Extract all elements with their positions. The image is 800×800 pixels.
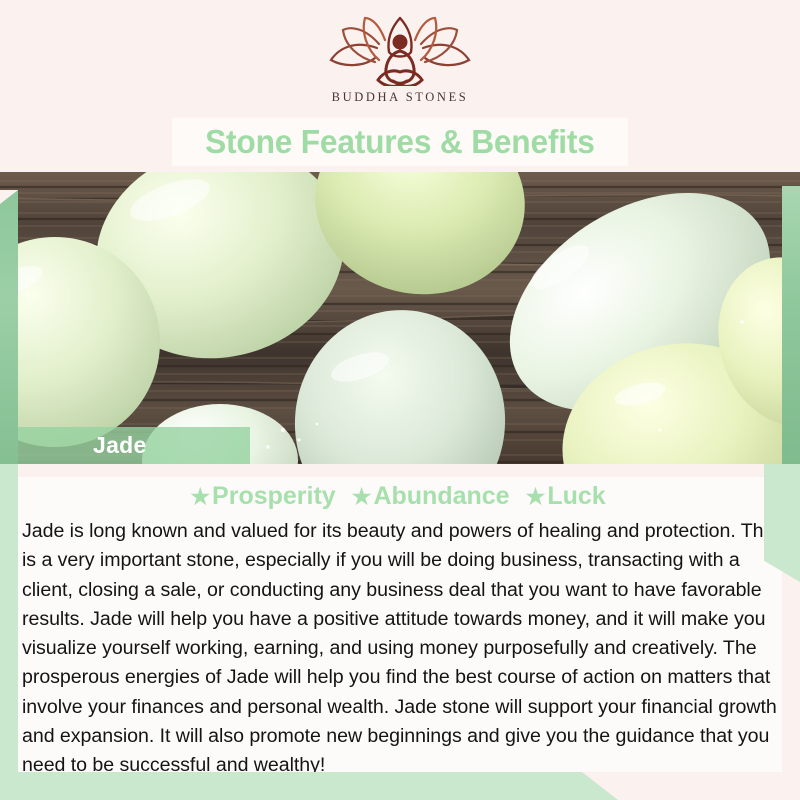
benefit-label-2: Abundance bbox=[373, 482, 509, 510]
benefit-label-3: Luck bbox=[547, 482, 605, 510]
stone-name-band: Jade bbox=[18, 427, 250, 464]
jade-stones-group bbox=[0, 172, 800, 464]
stone-photo bbox=[0, 172, 800, 464]
star-icon-1: ★ bbox=[190, 484, 210, 509]
page-root: BUDDHA STONES Stone Features & Benefits bbox=[0, 0, 800, 800]
accent-bar-left bbox=[0, 190, 18, 466]
panel-top-strip bbox=[18, 464, 782, 477]
accent-bar-right bbox=[782, 186, 800, 464]
star-icon-3: ★ bbox=[526, 484, 546, 509]
content-panel: ★Prosperity★Abundance★Luck Jade is long … bbox=[18, 464, 782, 772]
accent-bar-left-lower bbox=[0, 464, 18, 772]
stone-description: Jade is long known and valued for its be… bbox=[18, 517, 782, 781]
page-title: Stone Features & Benefits bbox=[205, 123, 595, 161]
benefits-row: ★Prosperity★Abundance★Luck bbox=[18, 481, 782, 512]
title-banner: Stone Features & Benefits bbox=[172, 118, 628, 166]
brand-name: BUDDHA STONES bbox=[332, 90, 469, 105]
benefit-label-1: Prosperity bbox=[212, 482, 336, 510]
stone-name-label: Jade bbox=[93, 432, 147, 459]
lotus-meditation-icon bbox=[315, 14, 485, 86]
star-icon-2: ★ bbox=[352, 484, 372, 509]
brand-logo bbox=[300, 14, 500, 86]
